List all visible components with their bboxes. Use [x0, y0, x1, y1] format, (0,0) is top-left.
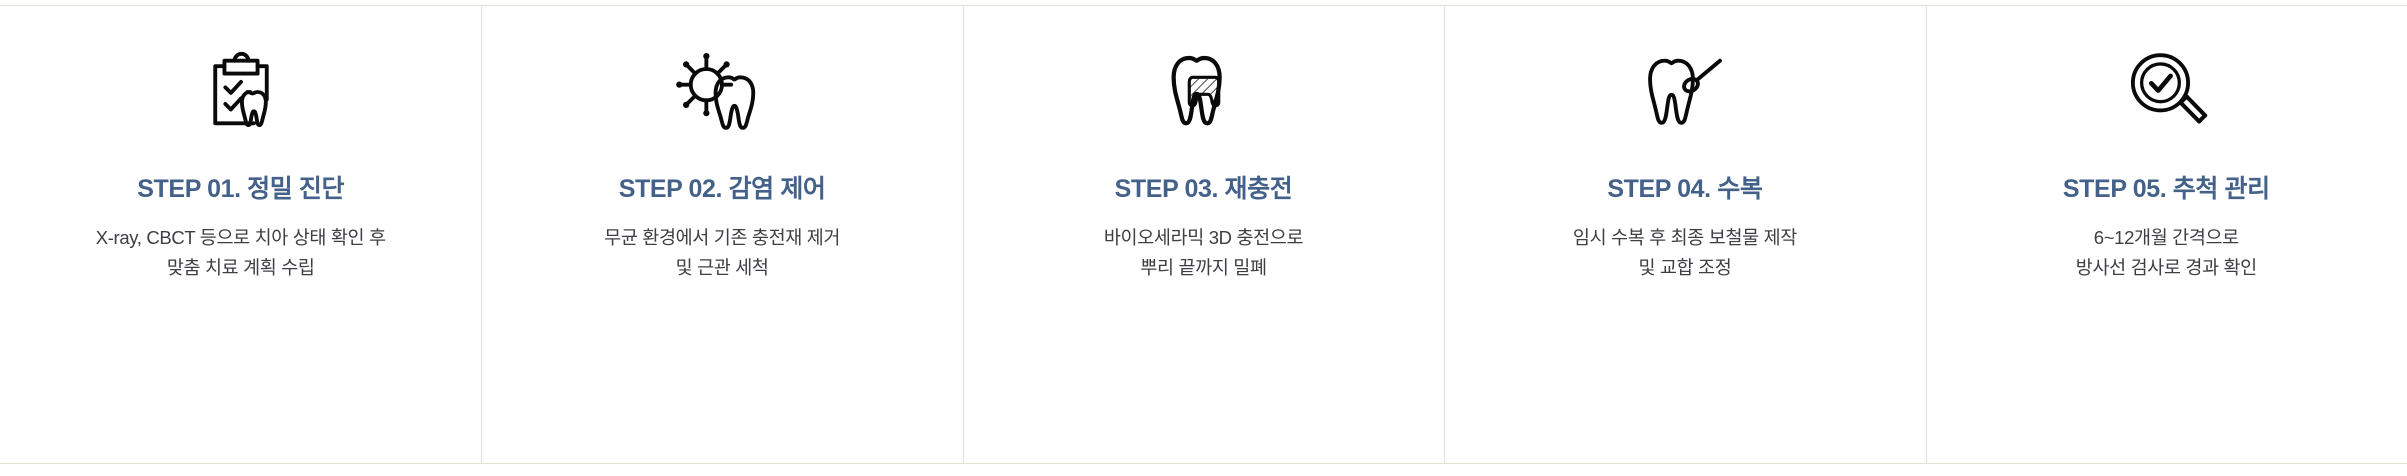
step-description: 임시 수복 후 최종 보철물 제작 및 교합 조정 — [1573, 223, 1797, 283]
step-desc-line: 뿌리 끝까지 밀폐 — [1104, 253, 1303, 283]
virus-tooth-icon — [674, 44, 770, 140]
step-desc-line: X-ray, CBCT 등으로 치아 상태 확인 후 — [96, 223, 386, 253]
step-card-1[interactable]: STEP 01. 정밀 진단 X-ray, CBCT 등으로 치아 상태 확인 … — [0, 0, 481, 476]
step-card-2[interactable]: STEP 02. 감염 제어 무균 환경에서 기존 충전재 제거 및 근관 세척 — [481, 0, 962, 476]
magnifier-check-icon — [2118, 44, 2214, 140]
treatment-steps-section: STEP 01. 정밀 진단 X-ray, CBCT 등으로 치아 상태 확인 … — [0, 0, 2407, 476]
step-desc-line: 바이오세라믹 3D 충전으로 — [1104, 223, 1303, 253]
step-description: 바이오세라믹 3D 충전으로 뿌리 끝까지 밀폐 — [1104, 223, 1303, 283]
step-title: STEP 04. 수복 — [1607, 174, 1762, 205]
step-description: X-ray, CBCT 등으로 치아 상태 확인 후 맞춤 치료 계획 수립 — [96, 223, 386, 283]
step-desc-line: 및 교합 조정 — [1573, 253, 1797, 283]
step-description: 무균 환경에서 기존 충전재 제거 및 근관 세척 — [604, 223, 840, 283]
step-card-5[interactable]: STEP 05. 추척 관리 6~12개월 간격으로 방사선 검사로 경과 확인 — [1926, 0, 2407, 476]
step-desc-line: 임시 수복 후 최종 보철물 제작 — [1573, 223, 1797, 253]
step-card-3[interactable]: STEP 03. 재충전 바이오세라믹 3D 충전으로 뿌리 끝까지 밀폐 — [963, 0, 1444, 476]
step-desc-line: 맞춤 치료 계획 수립 — [96, 253, 386, 283]
step-desc-line: 및 근관 세척 — [604, 253, 840, 283]
step-desc-line: 6~12개월 간격으로 — [2076, 223, 2257, 253]
step-card-4[interactable]: STEP 04. 수복 임시 수복 후 최종 보철물 제작 및 교합 조정 — [1444, 0, 1925, 476]
tooth-dental-mirror-icon — [1637, 44, 1733, 140]
step-title: STEP 05. 추척 관리 — [2063, 174, 2270, 205]
step-title: STEP 03. 재충전 — [1115, 174, 1293, 205]
step-title: STEP 01. 정밀 진단 — [137, 174, 344, 205]
clipboard-checklist-tooth-icon — [193, 44, 289, 140]
step-desc-line: 무균 환경에서 기존 충전재 제거 — [604, 223, 840, 253]
tooth-cross-section-filling-icon — [1156, 44, 1252, 140]
step-description: 6~12개월 간격으로 방사선 검사로 경과 확인 — [2076, 223, 2257, 283]
step-title: STEP 02. 감염 제어 — [619, 174, 826, 205]
step-desc-line: 방사선 검사로 경과 확인 — [2076, 253, 2257, 283]
